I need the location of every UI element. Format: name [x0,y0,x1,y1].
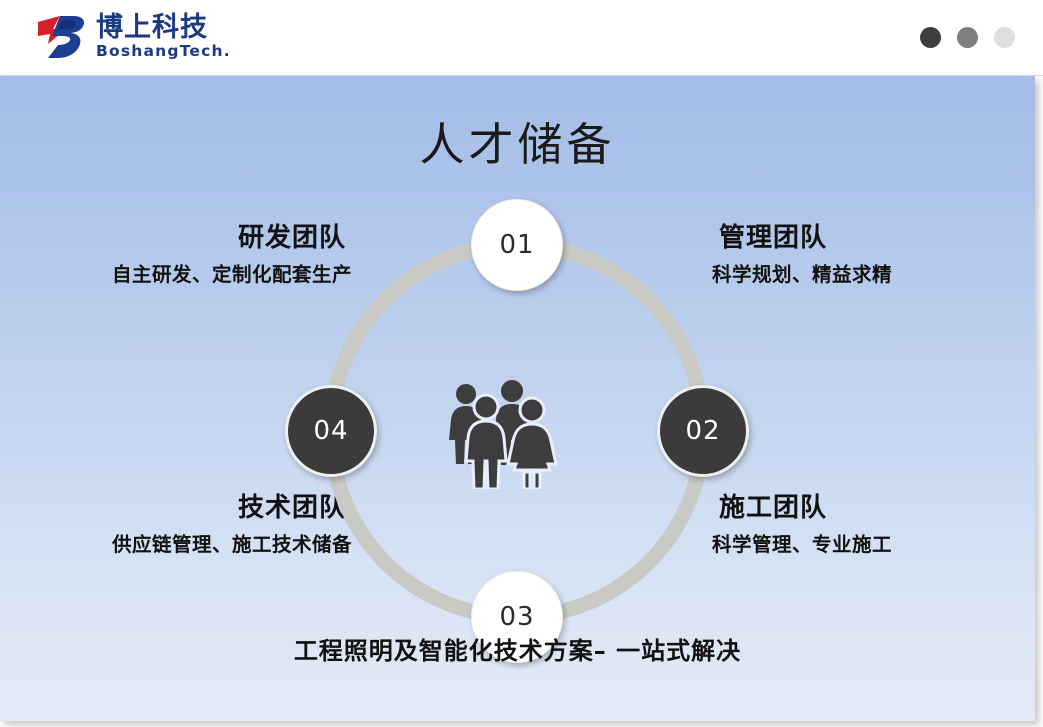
logo-name-en: BoshangTech. [96,44,231,60]
page-dot-2[interactable] [957,27,978,48]
page-dot-1[interactable] [920,27,941,48]
logo-name-cn: 博上科技 [96,14,231,41]
quadrant-heading: 施工团队 [712,494,1042,523]
slide-header: 博上科技 BoshangTech. [0,0,1043,76]
quadrant-subtext: 科学管理、专业施工 [712,534,1042,555]
diagram-node-label: 03 [499,602,534,632]
quadrant-heading: 管理团队 [712,224,1042,253]
quadrant-subtext: 科学规划、精益求精 [712,264,1042,285]
page-indicator-dots[interactable] [920,27,1015,48]
company-logo: 博上科技 BoshangTech. [36,14,231,60]
presentation-slide: 博上科技 BoshangTech. 人才储备 研发团队 自主研发、定制化配套生产… [0,0,1043,727]
quadrant-top-right: 管理团队 科学规划、精益求精 [712,224,1042,285]
boshang-b-logo-icon [36,14,88,60]
diagram-node-label: 02 [685,416,720,446]
diagram-node-label: 01 [499,230,534,260]
diagram-node-02[interactable]: 02 [657,385,749,477]
diagram-node-label: 04 [313,416,348,446]
diagram-node-04[interactable]: 04 [285,385,377,477]
logo-wordmark: 博上科技 BoshangTech. [96,14,231,60]
diagram-node-01[interactable]: 01 [471,199,563,291]
page-title: 人才储备 [0,108,1035,173]
page-dot-3[interactable] [994,27,1015,48]
slide-tagline: 工程照明及智能化技术方案– 一站式解决 [0,631,1035,666]
group-of-people-icon [439,369,559,489]
quadrant-bottom-right: 施工团队 科学管理、专业施工 [712,494,1042,555]
slide-body: 人才储备 研发团队 自主研发、定制化配套生产 管理团队 科学规划、精益求精 技术… [0,76,1035,721]
circular-diagram: 01 02 03 04 [297,211,737,651]
